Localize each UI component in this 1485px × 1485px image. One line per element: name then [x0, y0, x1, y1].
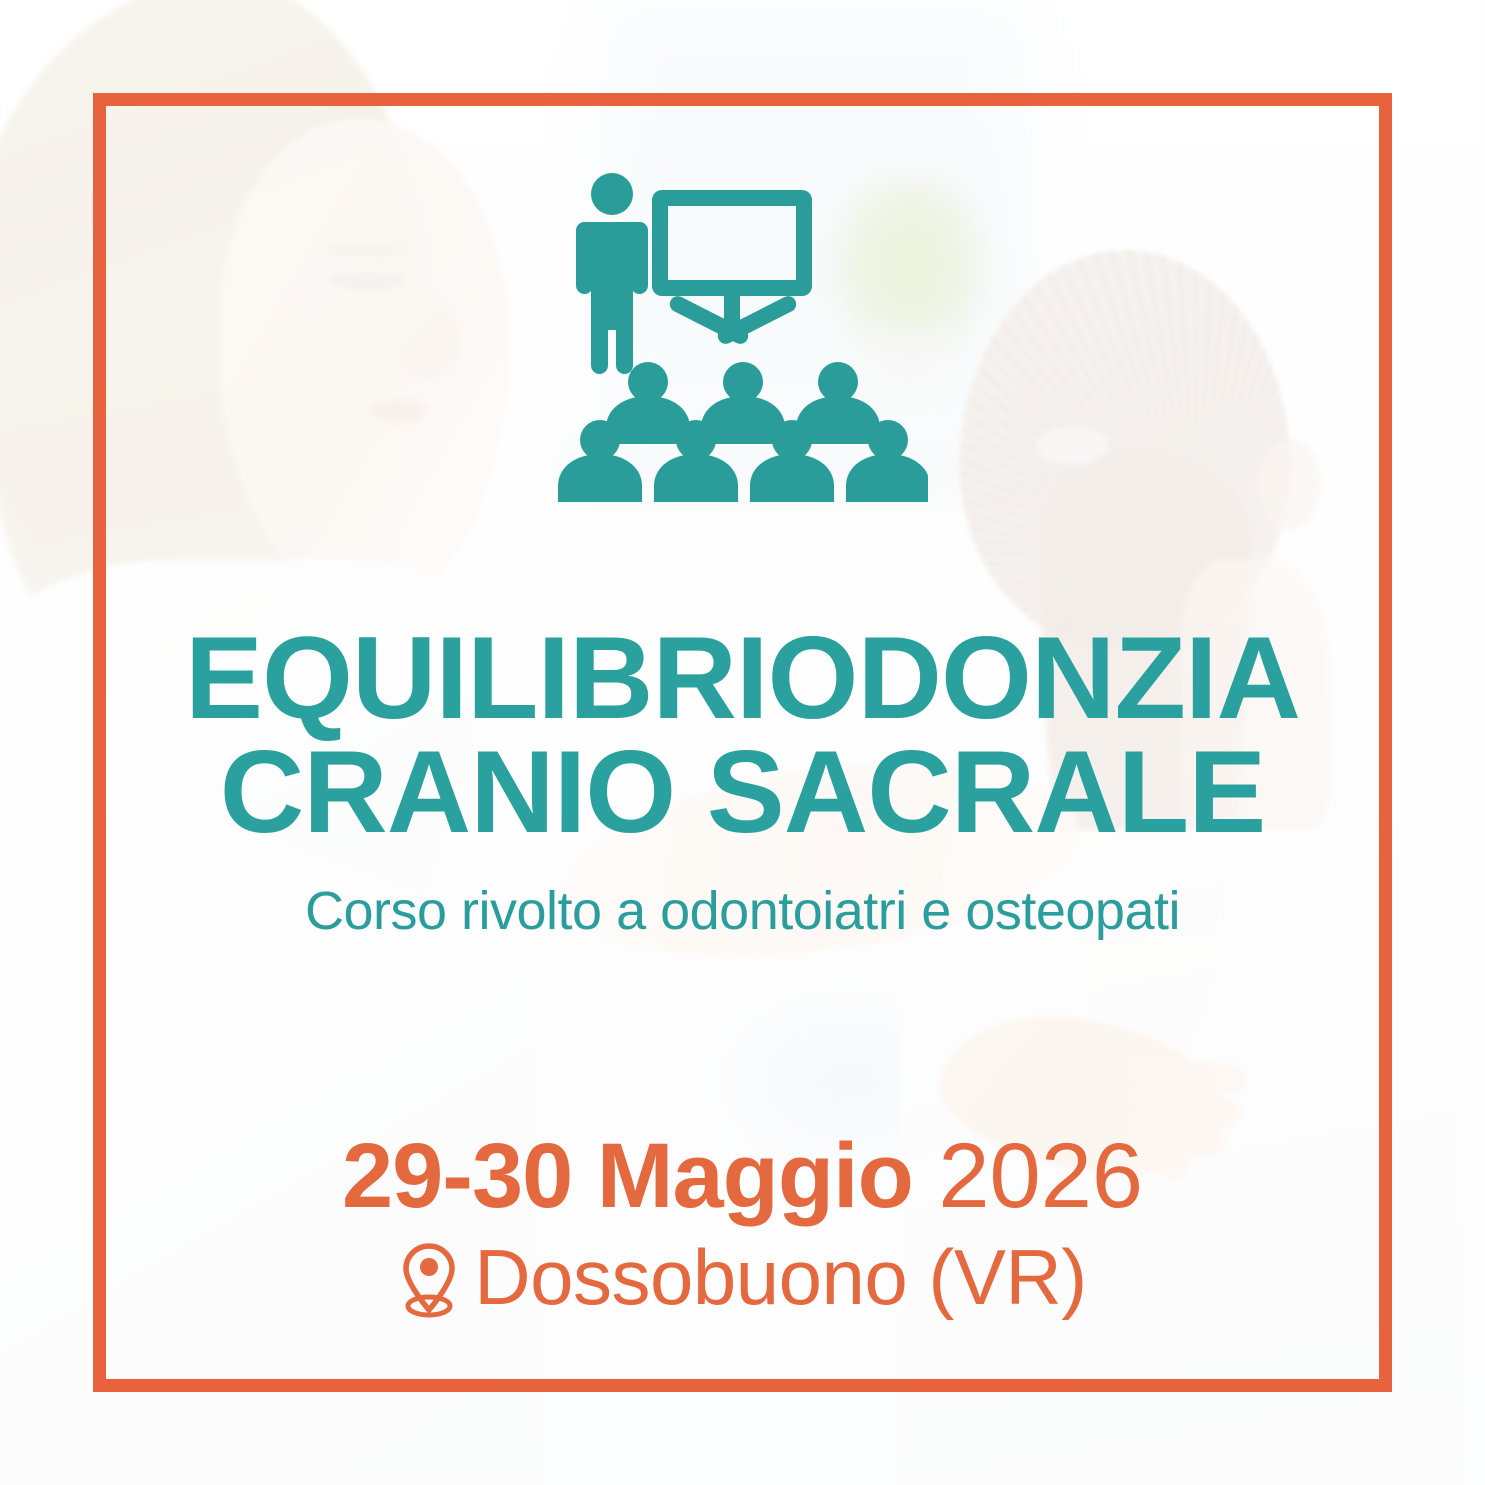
page-title: EQUILIBRIODONZIA CRANIO SACRALE: [0, 621, 1485, 849]
title-line-2: CRANIO SACRALE: [0, 735, 1485, 849]
event-location: Dossobuono (VR): [0, 1232, 1485, 1323]
event-date-days: 29-30 Maggio: [342, 1125, 913, 1227]
subtitle: Corso rivolto a odontoiatri e osteopati: [0, 881, 1485, 941]
seminar-training-icon: [558, 172, 928, 502]
event-poster: EQUILIBRIODONZIA CRANIO SACRALE Corso ri…: [0, 0, 1485, 1485]
poster-content: EQUILIBRIODONZIA CRANIO SACRALE Corso ri…: [0, 0, 1485, 1485]
title-line-1: EQUILIBRIODONZIA: [0, 621, 1485, 735]
location-pin-icon: [398, 1240, 460, 1320]
event-date-year: 2026: [913, 1125, 1143, 1227]
location-text: Dossobuono (VR): [474, 1232, 1086, 1323]
